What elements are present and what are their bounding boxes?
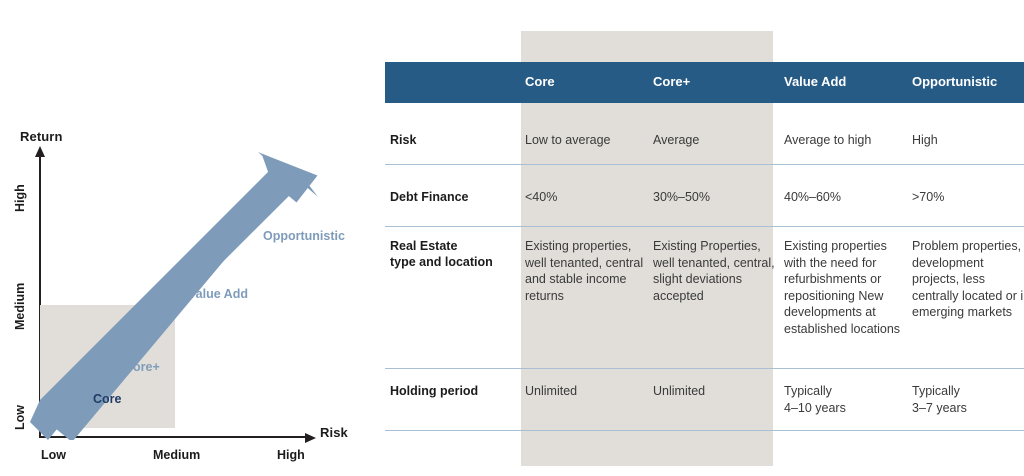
y-tick-high: High — [13, 184, 27, 212]
row-divider — [385, 164, 1024, 166]
table-cell: 30%–50% — [653, 189, 775, 206]
table-cell: High — [912, 132, 1024, 149]
y-axis-arrow-icon — [35, 146, 45, 157]
column-header-core: Core — [525, 74, 555, 89]
y-axis-title: Return — [20, 129, 63, 144]
table-cell: Low to average — [525, 132, 647, 149]
y-tick-low: Low — [13, 405, 27, 430]
table-cell: <40% — [525, 189, 647, 206]
row-divider — [385, 226, 1024, 228]
comparison-table: Core Core+ Value Add Opportunistic Risk … — [380, 0, 1024, 476]
x-tick-medium: Medium — [153, 448, 200, 462]
x-axis-line — [39, 436, 311, 438]
x-tick-high: High — [277, 448, 305, 462]
row-divider — [385, 430, 1024, 432]
table-cell: >70% — [912, 189, 1024, 206]
row-label-risk: Risk — [390, 132, 515, 148]
table-cell: Typically 3–7 years — [912, 383, 1024, 416]
table-cell: Typically 4–10 years — [784, 383, 906, 416]
table-cell: 40%–60% — [784, 189, 906, 206]
table-cell: Existing Properties, well tenanted, cent… — [653, 238, 775, 304]
y-tick-medium: Medium — [13, 283, 27, 330]
risk-return-chart: Return Risk High Medium Low Low Medium H… — [0, 0, 380, 476]
column-header-core-plus: Core+ — [653, 74, 690, 89]
column-header-opportunistic: Opportunistic — [912, 74, 997, 89]
row-label-real-estate: Real Estate type and location — [390, 238, 515, 270]
x-tick-low: Low — [41, 448, 66, 462]
column-header-value-add: Value Add — [784, 74, 846, 89]
x-axis-arrow-icon — [305, 433, 316, 443]
chart-tag-core: Core — [93, 392, 121, 406]
table-cell: Unlimited — [653, 383, 775, 400]
table-cell: Average to high — [784, 132, 906, 149]
table-cell: Problem properties, development projects… — [912, 238, 1024, 321]
table-cell: Average — [653, 132, 775, 149]
table-cell: Unlimited — [525, 383, 647, 400]
row-label-debt-finance: Debt Finance — [390, 189, 515, 205]
chart-tag-opportunistic: Opportunistic — [263, 229, 345, 243]
table-cell: Existing properties with the need for re… — [784, 238, 906, 338]
row-divider — [385, 368, 1024, 370]
x-axis-title: Risk — [320, 425, 348, 440]
chart-tag-value-add: Value Add — [188, 287, 248, 301]
row-label-holding-period: Holding period — [390, 383, 515, 399]
table-cell: Existing properties, well tenanted, cent… — [525, 238, 647, 304]
chart-tag-core-plus: Core+ — [124, 360, 160, 374]
